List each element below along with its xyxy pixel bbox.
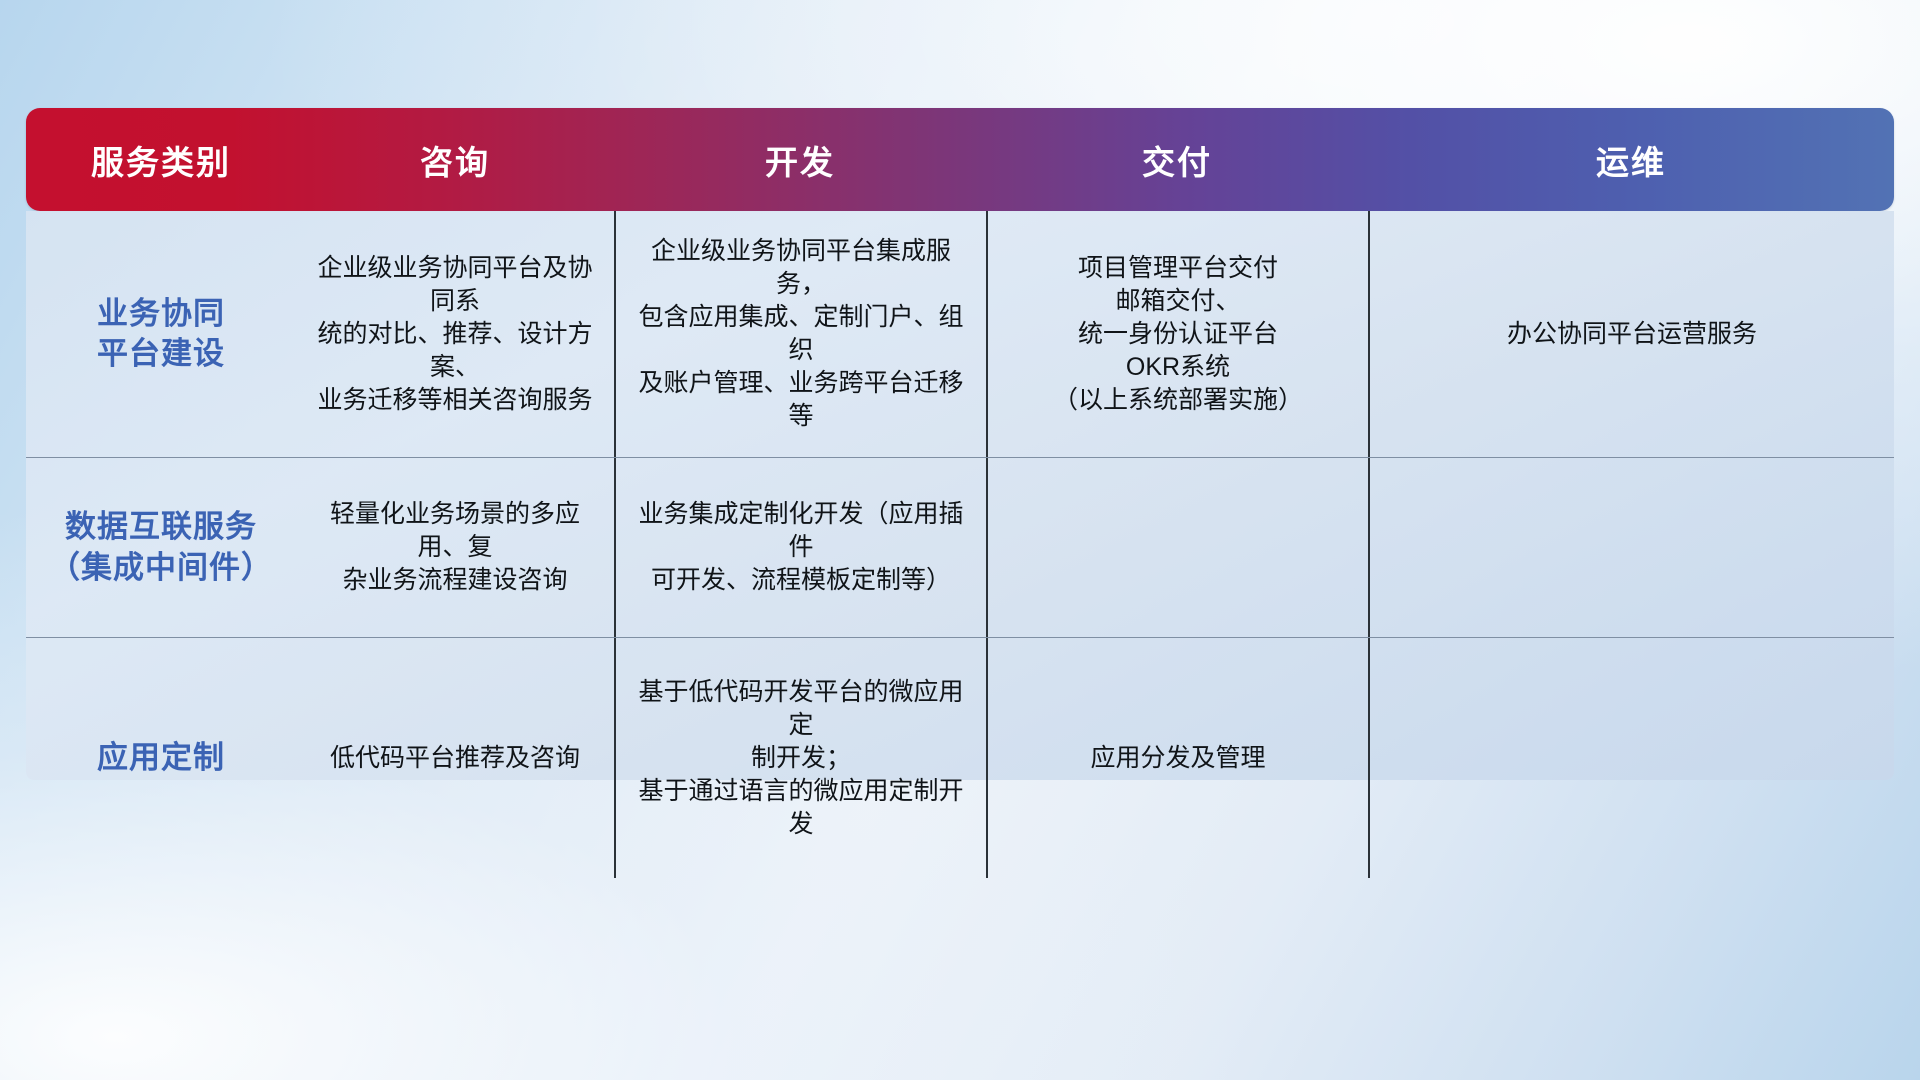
cell-consulting: 企业级业务协同平台及协同系 统的对比、推荐、设计方案、 业务迁移等相关咨询服务 [296,211,614,457]
cell-development: 企业级业务协同平台集成服务， 包含应用集成、定制门户、组织 及账户管理、业务跨平… [614,211,986,457]
header-cell-operations: 运维 [1368,108,1894,211]
table-row: 应用定制 低代码平台推荐及咨询 基于低代码开发平台的微应用定 制开发； 基于通过… [26,638,1894,878]
header-cell-delivery: 交付 [986,108,1368,211]
header-cell-service-category: 服务类别 [26,108,296,211]
header-cell-consulting: 咨询 [296,108,614,211]
cell-consulting: 低代码平台推荐及咨询 [296,638,614,878]
cell-consulting: 轻量化业务场景的多应用、复 杂业务流程建设咨询 [296,458,614,637]
slide-canvas: 服务类别 咨询 开发 交付 运维 业务协同 平台建设 企业级业务协同平台及协同系… [0,0,1920,1080]
table-row: 业务协同 平台建设 企业级业务协同平台及协同系 统的对比、推荐、设计方案、 业务… [26,211,1894,458]
service-matrix-table: 服务类别 咨询 开发 交付 运维 业务协同 平台建设 企业级业务协同平台及协同系… [26,108,1894,780]
cell-delivery: 项目管理平台交付 邮箱交付、 统一身份认证平台 OKR系统 （以上系统部署实施） [986,211,1368,457]
cell-development: 基于低代码开发平台的微应用定 制开发； 基于通过语言的微应用定制开发 [614,638,986,878]
row-category-label: 业务协同 平台建设 [26,211,296,457]
cell-delivery [986,458,1368,637]
table-row: 数据互联服务 （集成中间件） 轻量化业务场景的多应用、复 杂业务流程建设咨询 业… [26,458,1894,638]
cell-development: 业务集成定制化开发（应用插件 可开发、流程模板定制等） [614,458,986,637]
table-header-row: 服务类别 咨询 开发 交付 运维 [26,108,1894,211]
cell-delivery: 应用分发及管理 [986,638,1368,878]
cell-operations [1368,458,1894,637]
row-category-label: 应用定制 [26,638,296,878]
cell-operations [1368,638,1894,878]
header-cell-development: 开发 [614,108,986,211]
table-body: 业务协同 平台建设 企业级业务协同平台及协同系 统的对比、推荐、设计方案、 业务… [26,211,1894,780]
row-category-label: 数据互联服务 （集成中间件） [26,458,296,637]
cell-operations: 办公协同平台运营服务 [1368,211,1894,457]
